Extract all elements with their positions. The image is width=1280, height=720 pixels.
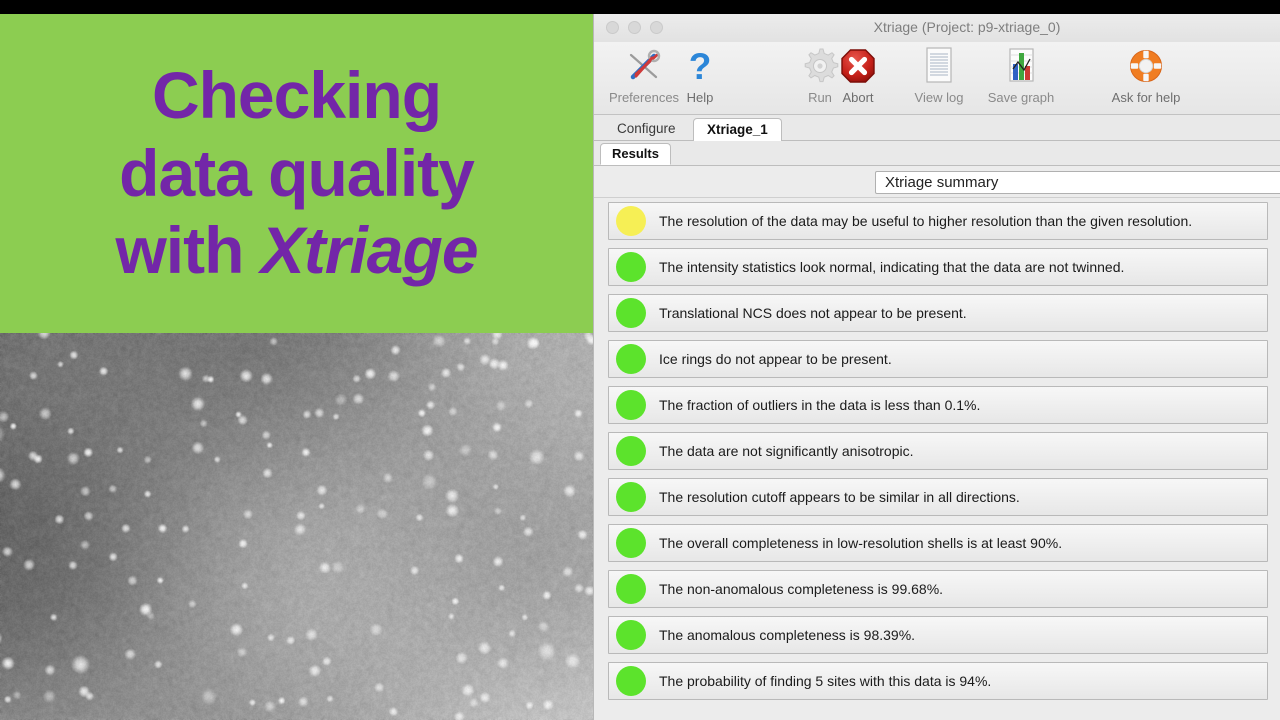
result-text: The data are not significantly anisotrop… <box>659 443 913 459</box>
result-row[interactable]: The resolution cutoff appears to be simi… <box>608 478 1268 516</box>
status-ok-icon <box>616 344 646 374</box>
results-list[interactable]: The resolution of the data may be useful… <box>594 198 1280 704</box>
slide-root: Checking data quality with Xtriage Xtria… <box>0 0 1280 720</box>
result-text: The non-anomalous completeness is 99.68%… <box>659 581 943 597</box>
xtriage-application-window: Xtriage (Project: p9-xtriage_0) Preferen… <box>593 14 1280 720</box>
toolbar-button-help[interactable]: ? Help <box>672 44 728 113</box>
result-text: The intensity statistics look normal, in… <box>659 259 1124 275</box>
toolbar-button-ask-for-help[interactable]: Ask for help <box>1092 44 1200 113</box>
status-ok-icon <box>616 482 646 512</box>
summary-selector-bar: Xtriage summary <box>594 166 1280 198</box>
toolbar-label-preferences: Preferences <box>609 90 679 105</box>
result-row[interactable]: The overall completeness in low-resoluti… <box>608 524 1268 562</box>
result-text: The overall completeness in low-resoluti… <box>659 535 1062 551</box>
bar-chart-icon <box>1002 44 1040 88</box>
result-row[interactable]: Ice rings do not appear to be present. <box>608 340 1268 378</box>
slide-title-line-1: Checking <box>152 57 441 135</box>
result-row[interactable]: The probability of finding 5 sites with … <box>608 662 1268 700</box>
slide-title-panel: Checking data quality with Xtriage <box>0 14 593 333</box>
stop-octagon-icon <box>837 44 879 88</box>
result-text: Ice rings do not appear to be present. <box>659 351 892 367</box>
sub-tabbar: Results <box>594 141 1280 166</box>
window-title: Xtriage (Project: p9-xtriage_0) <box>594 19 1280 35</box>
question-mark-icon: ? <box>680 44 720 88</box>
main-tabbar: Configure Xtriage_1 <box>594 115 1280 141</box>
document-text-icon <box>920 44 958 88</box>
slide-title-line-3: with Xtriage <box>115 212 477 290</box>
window-titlebar: Xtriage (Project: p9-xtriage_0) <box>594 14 1280 42</box>
status-ok-icon <box>616 620 646 650</box>
letterbox-bar-top <box>0 0 593 14</box>
tab-results[interactable]: Results <box>600 143 671 165</box>
result-row[interactable]: The fraction of outliers in the data is … <box>608 386 1268 424</box>
status-ok-icon <box>616 666 646 696</box>
slide-title-with-word: with <box>115 213 260 287</box>
toolbar-label-help: Help <box>687 90 714 105</box>
toolbar-label-abort: Abort <box>842 90 873 105</box>
result-text: The resolution cutoff appears to be simi… <box>659 489 1020 505</box>
toolbar-button-abort[interactable]: Abort <box>822 44 894 113</box>
toolbar-button-view-log[interactable]: View log <box>900 44 978 113</box>
toolbar-label-ask-for-help: Ask for help <box>1112 90 1181 105</box>
slide-title-line-2: data quality <box>119 135 474 213</box>
toolbar-button-save-graph[interactable]: Save graph <box>974 44 1068 113</box>
status-ok-icon <box>616 252 646 282</box>
status-ok-icon <box>616 436 646 466</box>
status-ok-icon <box>616 574 646 604</box>
tools-icon <box>624 44 664 88</box>
xtriage-summary-select[interactable]: Xtriage summary <box>875 171 1280 194</box>
result-row[interactable]: The intensity statistics look normal, in… <box>608 248 1268 286</box>
result-row[interactable]: The anomalous completeness is 98.39%. <box>608 616 1268 654</box>
result-text: The fraction of outliers in the data is … <box>659 397 980 413</box>
status-ok-icon <box>616 298 646 328</box>
tab-xtriage-1[interactable]: Xtriage_1 <box>693 118 782 142</box>
result-text: Translational NCS does not appear to be … <box>659 305 967 321</box>
toolbar-label-view-log: View log <box>915 90 964 105</box>
toolbar-label-save-graph: Save graph <box>988 90 1055 105</box>
result-row[interactable]: Translational NCS does not appear to be … <box>608 294 1268 332</box>
svg-text:?: ? <box>689 46 712 86</box>
life-ring-icon <box>1125 44 1167 88</box>
status-warning-icon <box>616 206 646 236</box>
diffraction-image <box>0 333 593 720</box>
result-text: The anomalous completeness is 98.39%. <box>659 627 915 643</box>
result-row[interactable]: The data are not significantly anisotrop… <box>608 432 1268 470</box>
result-row[interactable]: The resolution of the data may be useful… <box>608 202 1268 240</box>
slide-title-emphasis: Xtriage <box>261 213 478 287</box>
result-row[interactable]: The non-anomalous completeness is 99.68%… <box>608 570 1268 608</box>
main-toolbar: Preferences ? Help <box>594 42 1280 115</box>
slide-left-panel: Checking data quality with Xtriage <box>0 0 593 720</box>
tab-configure[interactable]: Configure <box>604 118 689 140</box>
result-text: The resolution of the data may be useful… <box>659 213 1192 229</box>
result-text: The probability of finding 5 sites with … <box>659 673 991 689</box>
status-ok-icon <box>616 528 646 558</box>
diffraction-canvas <box>0 333 593 720</box>
status-ok-icon <box>616 390 646 420</box>
